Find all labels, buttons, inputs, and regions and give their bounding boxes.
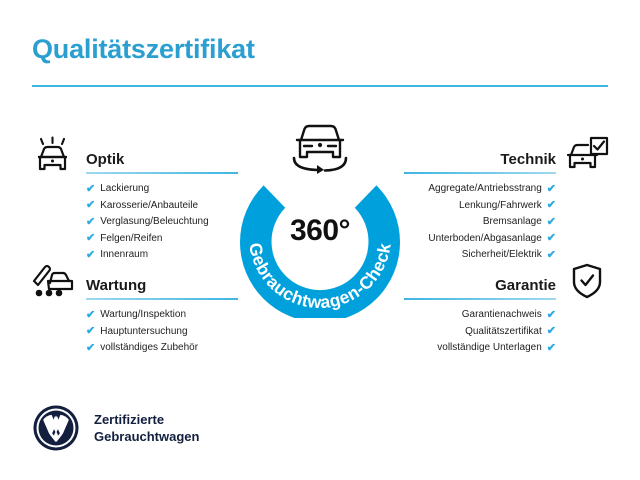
checklist-wartung: ✔Wartung/Inspektion ✔Hauptuntersuchung ✔… xyxy=(86,300,238,357)
check-icon: ✔ xyxy=(86,200,95,211)
section-optik: Optik ✔Lackierung ✔Karosserie/Anbauteile… xyxy=(86,140,238,264)
check-icon: ✔ xyxy=(86,310,95,321)
list-item-label: Hauptuntersuchung xyxy=(100,324,187,341)
check-icon: ✔ xyxy=(86,250,95,261)
quality-certificate-page: Qualitätszertifikat Optik xyxy=(0,0,640,480)
list-item-label: Aggregate/Antriebsstrang xyxy=(428,181,541,198)
checklist-technik: Aggregate/Antriebsstrang✔ Lenkung/Fahrwe… xyxy=(404,174,556,264)
check-icon: ✔ xyxy=(547,250,556,261)
section-header: Technik xyxy=(404,140,556,174)
section-wartung: Wartung ✔Wartung/Inspektion ✔Hauptunters… xyxy=(86,266,238,357)
list-item: ✔Lackierung xyxy=(86,181,238,198)
check-icon: ✔ xyxy=(547,217,556,228)
list-item-label: Karosserie/Anbauteile xyxy=(100,198,198,215)
list-item: ✔Karosserie/Anbauteile xyxy=(86,198,238,215)
list-item-label: Verglasung/Beleuchtung xyxy=(100,214,208,231)
checklist-garantie: Garantienachweis✔ Qualitätszertifikat✔ v… xyxy=(404,300,556,357)
car-rotate-360-icon xyxy=(278,118,362,180)
list-item-label: Wartung/Inspektion xyxy=(100,307,186,324)
footer-line-1: Zertifizierte xyxy=(94,411,199,428)
list-item-label: Garantienachweis xyxy=(462,307,542,324)
section-title: Technik xyxy=(500,151,556,168)
list-item: Aggregate/Antriebsstrang✔ xyxy=(404,181,556,198)
section-header: Optik xyxy=(86,140,238,174)
section-garantie: Garantie Garantienachweis✔ Qualitätszert… xyxy=(404,266,556,357)
check-icon: ✔ xyxy=(86,343,95,354)
check-icon: ✔ xyxy=(547,233,556,244)
list-item: Qualitätszertifikat✔ xyxy=(404,324,556,341)
list-item: ✔Verglasung/Beleuchtung xyxy=(86,214,238,231)
list-item: ✔Wartung/Inspektion xyxy=(86,307,238,324)
volkswagen-logo xyxy=(32,404,80,452)
check-icon: ✔ xyxy=(86,184,95,195)
check-icon: ✔ xyxy=(547,326,556,337)
check-icon: ✔ xyxy=(547,184,556,195)
shield-check-icon xyxy=(564,262,610,302)
list-item-label: Unterboden/Abgasanlage xyxy=(428,231,541,248)
list-item-label: Innenraum xyxy=(100,247,148,264)
check-icon: ✔ xyxy=(547,310,556,321)
list-item: Sicherheit/Elektrik✔ xyxy=(404,247,556,264)
footer-brand-lockup: Zertifizierte Gebrauchtwagen xyxy=(32,404,199,452)
check-icon: ✔ xyxy=(547,200,556,211)
list-item-label: Felgen/Reifen xyxy=(100,231,162,248)
footer-text: Zertifizierte Gebrauchtwagen xyxy=(94,411,199,445)
section-header: Garantie xyxy=(404,266,556,300)
section-divider xyxy=(86,298,238,300)
section-header: Wartung xyxy=(86,266,238,300)
section-title: Garantie xyxy=(495,277,556,294)
list-item-label: Lenkung/Fahrwerk xyxy=(459,198,542,215)
section-technik: Technik Aggregate/Antriebsstrang✔ Lenkun… xyxy=(404,140,556,264)
section-divider xyxy=(404,298,556,300)
list-item-label: Qualitätszertifikat xyxy=(465,324,542,341)
list-item: vollständige Unterlagen✔ xyxy=(404,340,556,357)
list-item: Bremsanlage✔ xyxy=(404,214,556,231)
page-title: Qualitätszertifikat xyxy=(32,34,255,65)
checklist-optik: ✔Lackierung ✔Karosserie/Anbauteile ✔Verg… xyxy=(86,174,238,264)
list-item: Unterboden/Abgasanlage✔ xyxy=(404,231,556,248)
car-shine-icon xyxy=(30,136,76,176)
section-title: Wartung xyxy=(86,277,146,294)
check-icon: ✔ xyxy=(86,326,95,337)
list-item: ✔Felgen/Reifen xyxy=(86,231,238,248)
list-item-label: vollständige Unterlagen xyxy=(437,340,542,357)
list-item-label: Lackierung xyxy=(100,181,149,198)
check-icon: ✔ xyxy=(547,343,556,354)
footer-line-2: Gebrauchtwagen xyxy=(94,428,199,445)
list-item: Garantienachweis✔ xyxy=(404,307,556,324)
badge-360-gebrauchtwagen-check: Gebrauchtwagen-Check 360° xyxy=(228,118,412,318)
list-item: Lenkung/Fahrwerk✔ xyxy=(404,198,556,215)
title-divider xyxy=(32,85,608,87)
list-item-label: Bremsanlage xyxy=(483,214,542,231)
car-wrench-icon xyxy=(30,262,76,302)
list-item-label: Sicherheit/Elektrik xyxy=(462,247,542,264)
badge-value: 360° xyxy=(228,214,412,248)
check-icon: ✔ xyxy=(86,217,95,228)
section-divider xyxy=(86,172,238,174)
list-item: ✔Hauptuntersuchung xyxy=(86,324,238,341)
list-item: ✔Innenraum xyxy=(86,247,238,264)
list-item: ✔vollständiges Zubehör xyxy=(86,340,238,357)
check-icon: ✔ xyxy=(86,233,95,244)
list-item-label: vollständiges Zubehör xyxy=(100,340,198,357)
section-divider xyxy=(404,172,556,174)
section-title: Optik xyxy=(86,151,124,168)
car-checkbox-icon xyxy=(564,136,610,176)
